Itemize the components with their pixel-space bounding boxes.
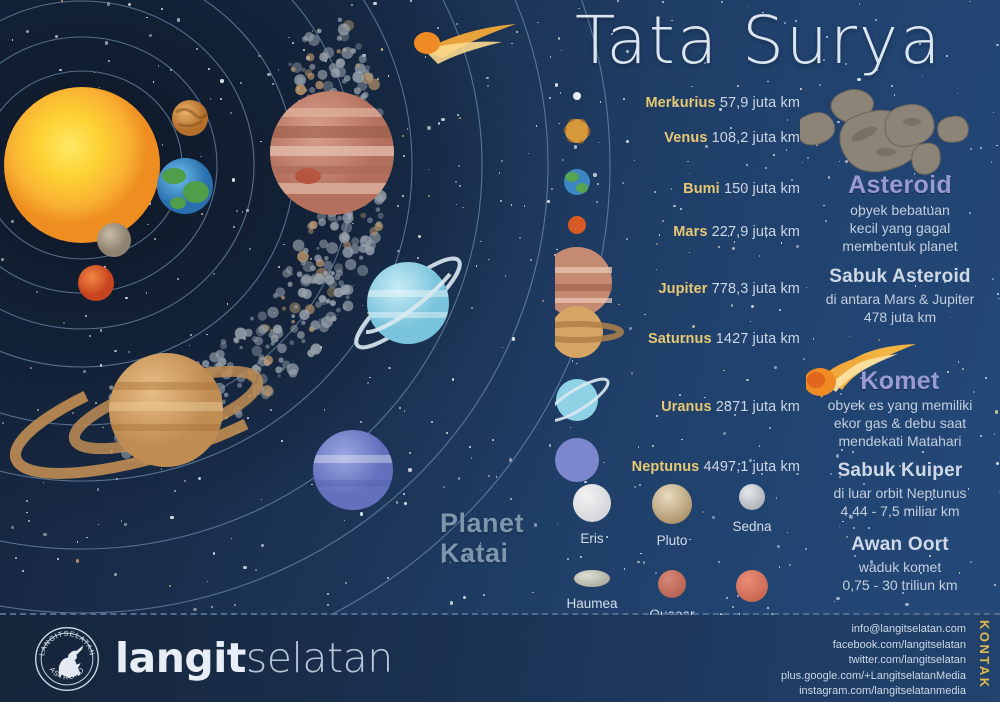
comet-heading: Komet [800,368,1000,394]
asteroid-belt-section: Sabuk Asteroid di antara Mars & Jupiter … [800,266,1000,327]
dwarf-row-1: Eris Pluto Sedna [552,484,802,548]
list-item-jupiter: Jupiter 778,3 juta km [658,281,800,297]
contact-list: info@langitselatan.com facebook.com/lang… [781,622,966,700]
contact-googleplus[interactable]: plus.google.com/+LangitselatanMedia [781,669,966,685]
kuiper-belt-line1: di luar orbit Neptunus [800,485,1000,503]
dwarf-item-eris: Eris [552,484,632,548]
list-item-saturn: Saturnus 1427 juta km [648,331,800,347]
dwarf-label-pluto: Pluto [632,533,712,548]
langitselatan-logo: LANGITSELATAN ASTRO.ID [33,625,101,693]
dwarf-planet-heading: Planet Katai [440,508,524,568]
svg-text:LANGITSELATAN: LANGITSELATAN [38,630,96,657]
planet-mercury [97,223,131,257]
dwarf-item-sedna: Sedna [712,484,792,548]
planet-uranus [347,248,470,359]
asteroid-belt-line2: 478 juta km [800,309,1000,327]
comet-illustration-left [414,24,516,64]
solar-system-infographic: Tata Surya Merkurius 57,9 juta km Venus … [0,0,1000,702]
planet-earth [157,158,213,214]
sun [4,87,160,243]
planet-neptune [310,430,400,510]
brand-bold: langit [115,634,246,682]
oort-cloud-heading: Awan Oort [800,534,1000,556]
dwarf-planet-grid: Eris Pluto Sedna Haumea Quaoar Make [552,484,802,626]
kontak-label: KONTAK [977,620,992,690]
dwarf-heading-line2: Katai [440,538,524,568]
logo-ring-top-text: LANGITSELATAN [38,630,96,657]
planet-mars [78,265,114,301]
oort-cloud-section: Awan Oort waduk komet 0,75 - 30 triliun … [800,534,1000,595]
footer-divider [0,613,1000,615]
page-title: Tata Surya [575,2,943,79]
kuiper-belt-line2: 4,44 - 7,5 miliar km [800,503,1000,521]
dwarf-label-haumea: Haumea [552,596,632,611]
kuiper-belt-section: Sabuk Kuiper di luar orbit Neptunus 4,44… [800,460,1000,521]
asteroid-belt-line1: di antara Mars & Jupiter [800,291,1000,309]
brand-wordmark: langitselatan [115,634,393,682]
list-item-mars: Mars 227,9 juta km [673,224,800,240]
kuiper-belt-heading: Sabuk Kuiper [800,460,1000,482]
contact-twitter[interactable]: twitter.com/langitselatan [781,653,966,669]
list-item-mercury: Merkurius 57,9 juta km [645,95,800,111]
planet-venus [172,100,208,136]
dwarf-label-sedna: Sedna [712,519,792,534]
contact-instagram[interactable]: instagram.com/langitselatanmedia [781,684,966,700]
list-item-earth: Bumi 150 juta km [683,181,800,197]
oort-cloud-line2: 0,75 - 30 triliun km [800,577,1000,595]
dwarf-heading-line1: Planet [440,508,524,538]
planet-list-icons [555,86,625,506]
dwarf-label-eris: Eris [552,531,632,546]
list-item-uranus: Uranus 2871 juta km [661,399,800,415]
asteroid-heading: Asteroid [800,172,1000,198]
asteroid-description: obyek bebatuan kecil yang gagal membentu… [800,202,1000,256]
contact-email[interactable]: info@langitselatan.com [781,622,966,638]
planet-saturn [15,353,265,473]
list-item-neptune: Neptunus 4497,1 juta km [632,459,800,475]
contact-facebook[interactable]: facebook.com/langitselatan [781,638,966,654]
oort-cloud-line1: waduk komet [800,559,1000,577]
asteroid-belt-heading: Sabuk Asteroid [800,266,1000,288]
list-item-venus: Venus 108,2 juta km [664,130,800,146]
brand-light: selatan [246,634,393,682]
dwarf-item-pluto: Pluto [632,484,712,548]
comet-description: obyek es yang memiliki ekor gas & debu s… [800,397,1000,451]
comet-section: Komet obyek es yang memiliki ekor gas & … [800,368,1000,451]
asteroid-section: Asteroid obyek bebatuan kecil yang gagal… [800,172,1000,256]
centaur-archer-glyph [58,645,83,678]
